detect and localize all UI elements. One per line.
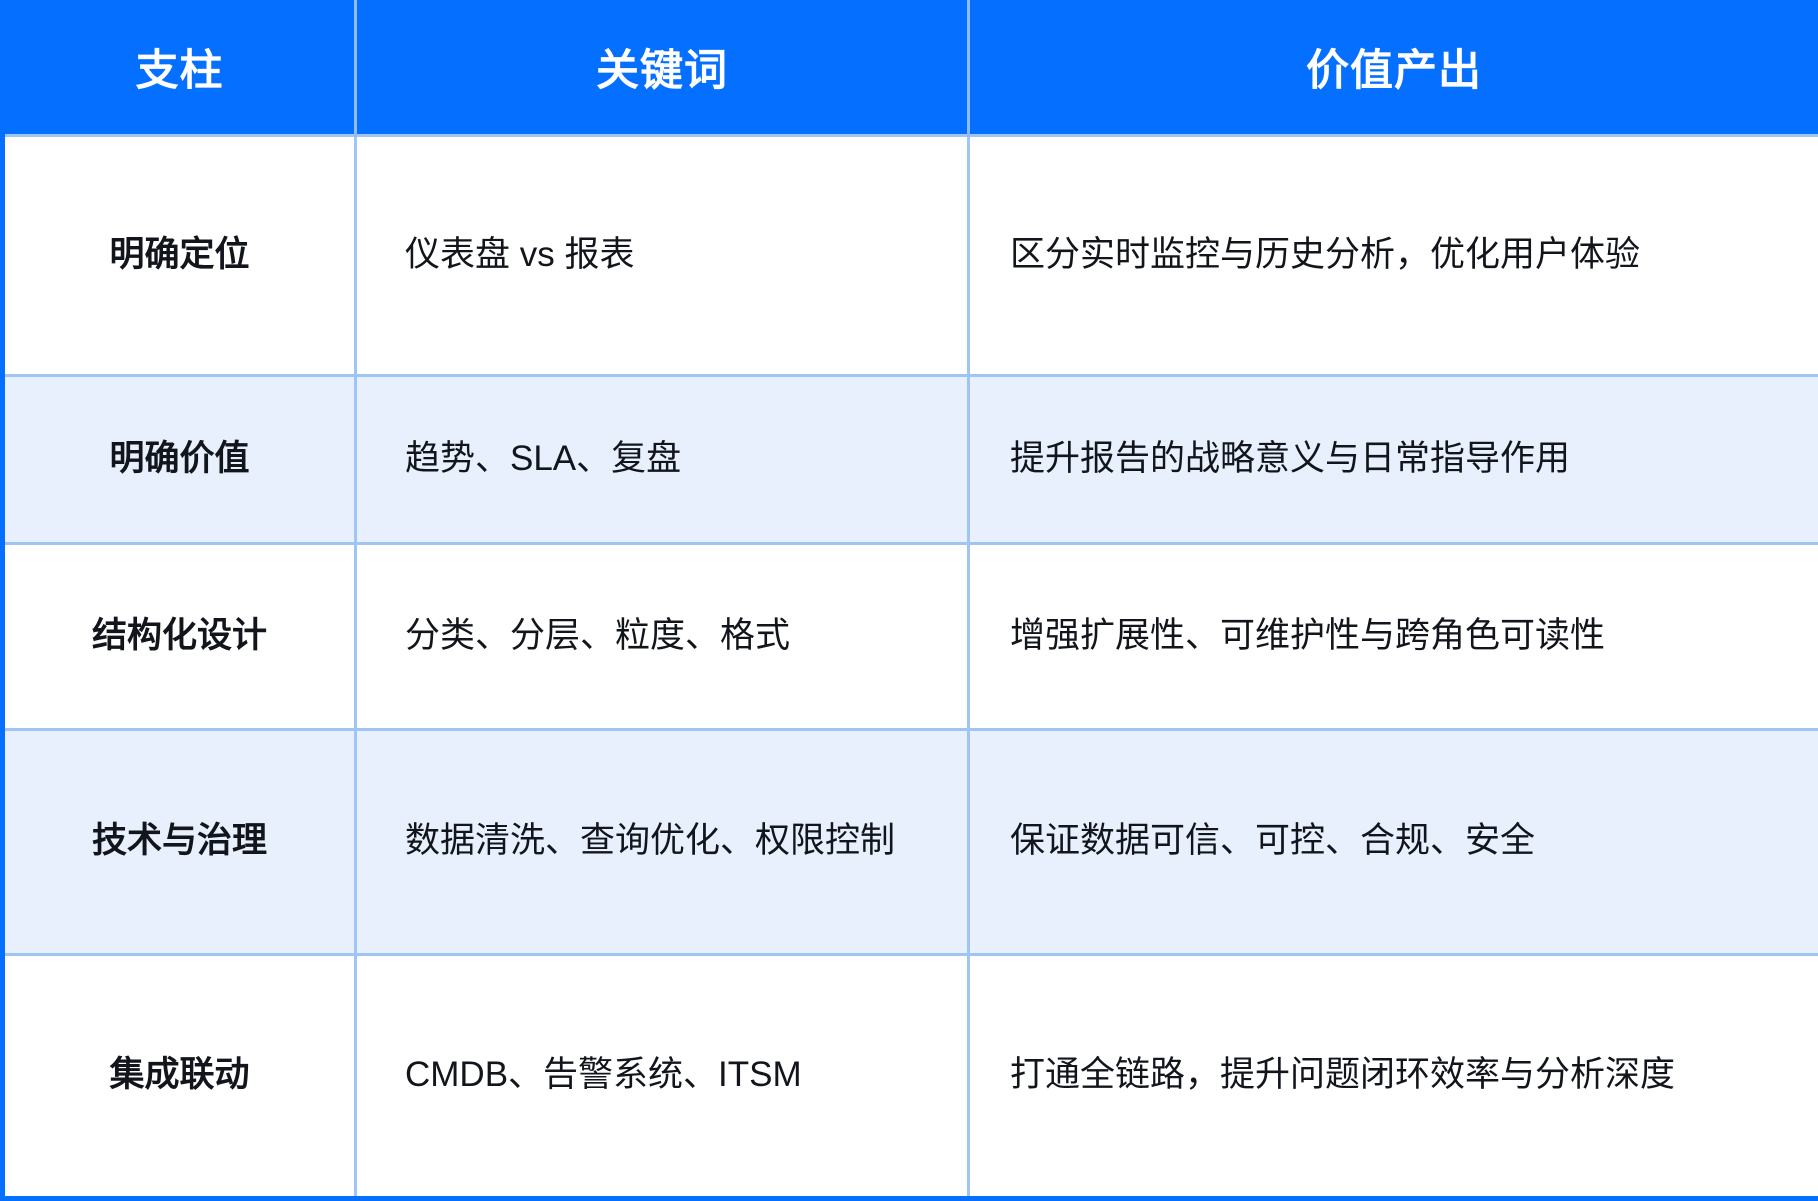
cell-value: 区分实时监控与历史分析，优化用户体验 xyxy=(969,135,1818,375)
table-row: 集成联动 CMDB、告警系统、ITSM 打通全链路，提升问题闭环效率与分析深度 xyxy=(3,954,1818,1198)
cell-pillar: 结构化设计 xyxy=(3,543,356,729)
column-header-keywords: 关键词 xyxy=(356,0,969,135)
pillar-table-container: 支柱 关键词 价值产出 明确定位 仪表盘 vs 报表 区分实时监控与历史分析，优… xyxy=(0,0,1818,940)
cell-value: 提升报告的战略意义与日常指导作用 xyxy=(969,375,1818,543)
cell-keywords: CMDB、告警系统、ITSM xyxy=(356,954,969,1198)
table-header: 支柱 关键词 价值产出 xyxy=(3,0,1818,135)
cell-keywords: 分类、分层、粒度、格式 xyxy=(356,543,969,729)
table-body: 明确定位 仪表盘 vs 报表 区分实时监控与历史分析，优化用户体验 明确价值 趋… xyxy=(3,135,1818,1198)
cell-value: 打通全链路，提升问题闭环效率与分析深度 xyxy=(969,954,1818,1198)
table-row: 明确价值 趋势、SLA、复盘 提升报告的战略意义与日常指导作用 xyxy=(3,375,1818,543)
cell-pillar: 明确价值 xyxy=(3,375,356,543)
cell-keywords: 仪表盘 vs 报表 xyxy=(356,135,969,375)
cell-value: 保证数据可信、可控、合规、安全 xyxy=(969,729,1818,954)
cell-value: 增强扩展性、可维护性与跨角色可读性 xyxy=(969,543,1818,729)
column-header-value: 价值产出 xyxy=(969,0,1818,135)
column-header-pillar: 支柱 xyxy=(3,0,356,135)
cell-pillar: 明确定位 xyxy=(3,135,356,375)
cell-pillar: 技术与治理 xyxy=(3,729,356,954)
pillar-value-table: 支柱 关键词 价值产出 明确定位 仪表盘 vs 报表 区分实时监控与历史分析，优… xyxy=(0,0,1818,1201)
table-row: 技术与治理 数据清洗、查询优化、权限控制 保证数据可信、可控、合规、安全 xyxy=(3,729,1818,954)
header-row: 支柱 关键词 价值产出 xyxy=(3,0,1818,135)
table-row: 明确定位 仪表盘 vs 报表 区分实时监控与历史分析，优化用户体验 xyxy=(3,135,1818,375)
cell-pillar: 集成联动 xyxy=(3,954,356,1198)
cell-keywords: 趋势、SLA、复盘 xyxy=(356,375,969,543)
table-row: 结构化设计 分类、分层、粒度、格式 增强扩展性、可维护性与跨角色可读性 xyxy=(3,543,1818,729)
cell-keywords: 数据清洗、查询优化、权限控制 xyxy=(356,729,969,954)
